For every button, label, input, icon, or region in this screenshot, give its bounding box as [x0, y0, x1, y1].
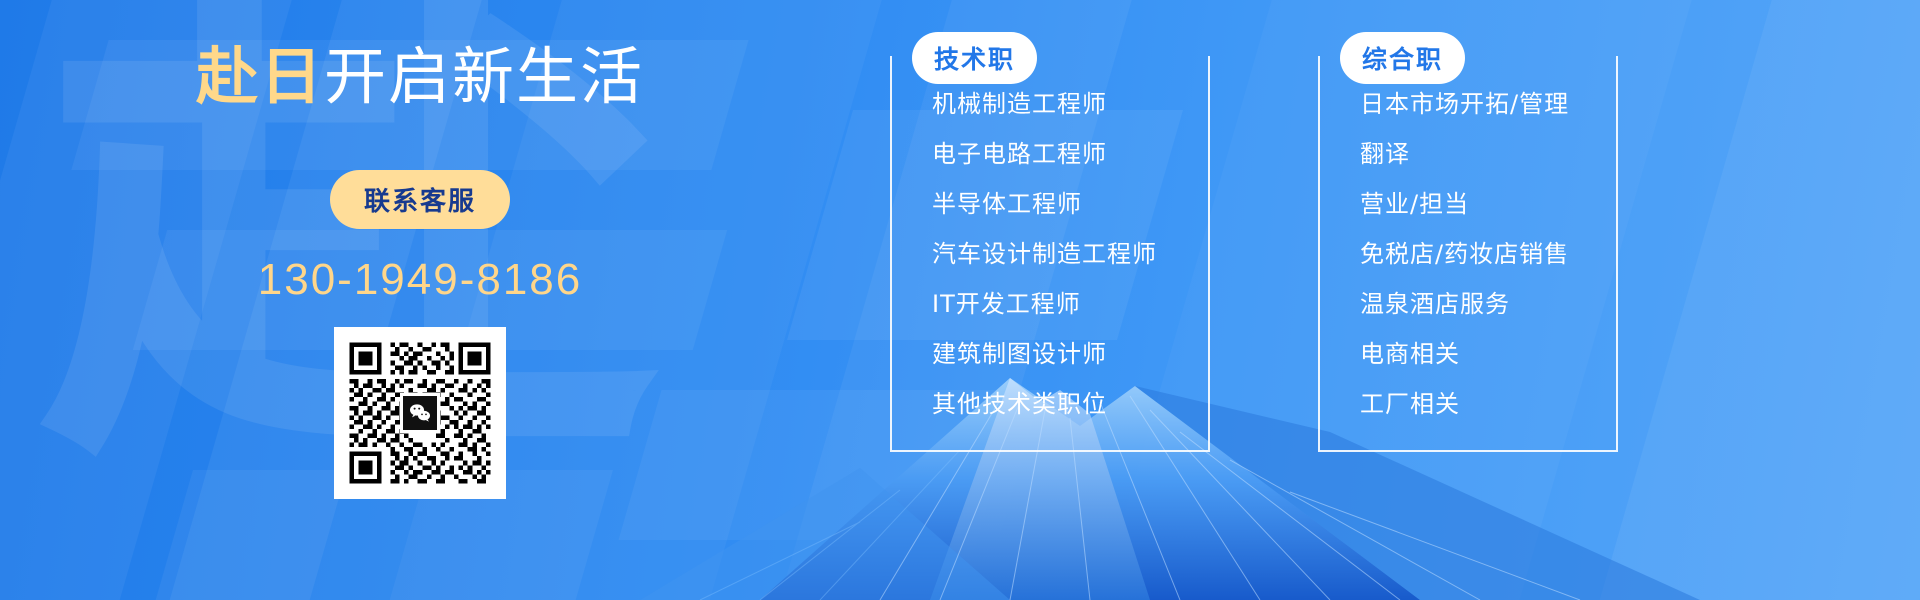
- list-item[interactable]: 日本市场开拓/管理: [1360, 92, 1576, 116]
- job-categories: 技术职 机械制造工程师 电子电路工程师 半导体工程师 汽车设计制造工程师 IT开…: [890, 56, 1618, 452]
- list-item[interactable]: 其他技术类职位: [932, 392, 1168, 416]
- wechat-logo-icon: [400, 393, 440, 433]
- left-content: 赴日开启新生活 联系客服 130-1949-8186: [0, 0, 840, 600]
- list-item[interactable]: 汽车设计制造工程师: [932, 242, 1168, 266]
- job-list-general: 日本市场开拓/管理 翻译 营业/担当 免税店/药妆店销售 温泉酒店服务 电商相关…: [1360, 92, 1576, 416]
- job-column-general-badge[interactable]: 综合职: [1340, 32, 1465, 84]
- phone-number[interactable]: 130-1949-8186: [258, 255, 582, 305]
- contact-service-button[interactable]: 联系客服: [330, 170, 510, 229]
- list-item[interactable]: 电子电路工程师: [932, 142, 1168, 166]
- list-item[interactable]: 免税店/药妆店销售: [1360, 242, 1576, 266]
- list-item[interactable]: 工厂相关: [1360, 392, 1576, 416]
- job-list-technical: 机械制造工程师 电子电路工程师 半导体工程师 汽车设计制造工程师 IT开发工程师…: [932, 92, 1168, 416]
- list-item[interactable]: 营业/担当: [1360, 192, 1576, 216]
- promo-banner: 赴: [0, 0, 1920, 600]
- headline-rest: 开启新生活: [324, 40, 644, 113]
- list-item[interactable]: 半导体工程师: [932, 192, 1168, 216]
- job-column-general: 综合职 日本市场开拓/管理 翻译 营业/担当 免税店/药妆店销售 温泉酒店服务 …: [1318, 56, 1618, 452]
- job-column-technical-badge[interactable]: 技术职: [912, 32, 1037, 84]
- list-item[interactable]: 温泉酒店服务: [1360, 292, 1576, 316]
- list-item[interactable]: 机械制造工程师: [932, 92, 1168, 116]
- job-column-technical-box: 机械制造工程师 电子电路工程师 半导体工程师 汽车设计制造工程师 IT开发工程师…: [890, 56, 1210, 452]
- wechat-glyph-icon: [408, 401, 432, 425]
- list-item[interactable]: IT开发工程师: [932, 292, 1168, 316]
- list-item[interactable]: 建筑制图设计师: [932, 342, 1168, 366]
- job-column-technical: 技术职 机械制造工程师 电子电路工程师 半导体工程师 汽车设计制造工程师 IT开…: [890, 56, 1210, 452]
- page-title: 赴日开启新生活: [196, 46, 644, 108]
- list-item[interactable]: 电商相关: [1360, 342, 1576, 366]
- qr-code[interactable]: [334, 327, 506, 499]
- bg-stripe: [1571, 0, 1920, 600]
- list-item[interactable]: 翻译: [1360, 142, 1576, 166]
- headline-highlight: 赴日: [196, 40, 324, 113]
- job-column-general-box: 日本市场开拓/管理 翻译 营业/担当 免税店/药妆店销售 温泉酒店服务 电商相关…: [1318, 56, 1618, 452]
